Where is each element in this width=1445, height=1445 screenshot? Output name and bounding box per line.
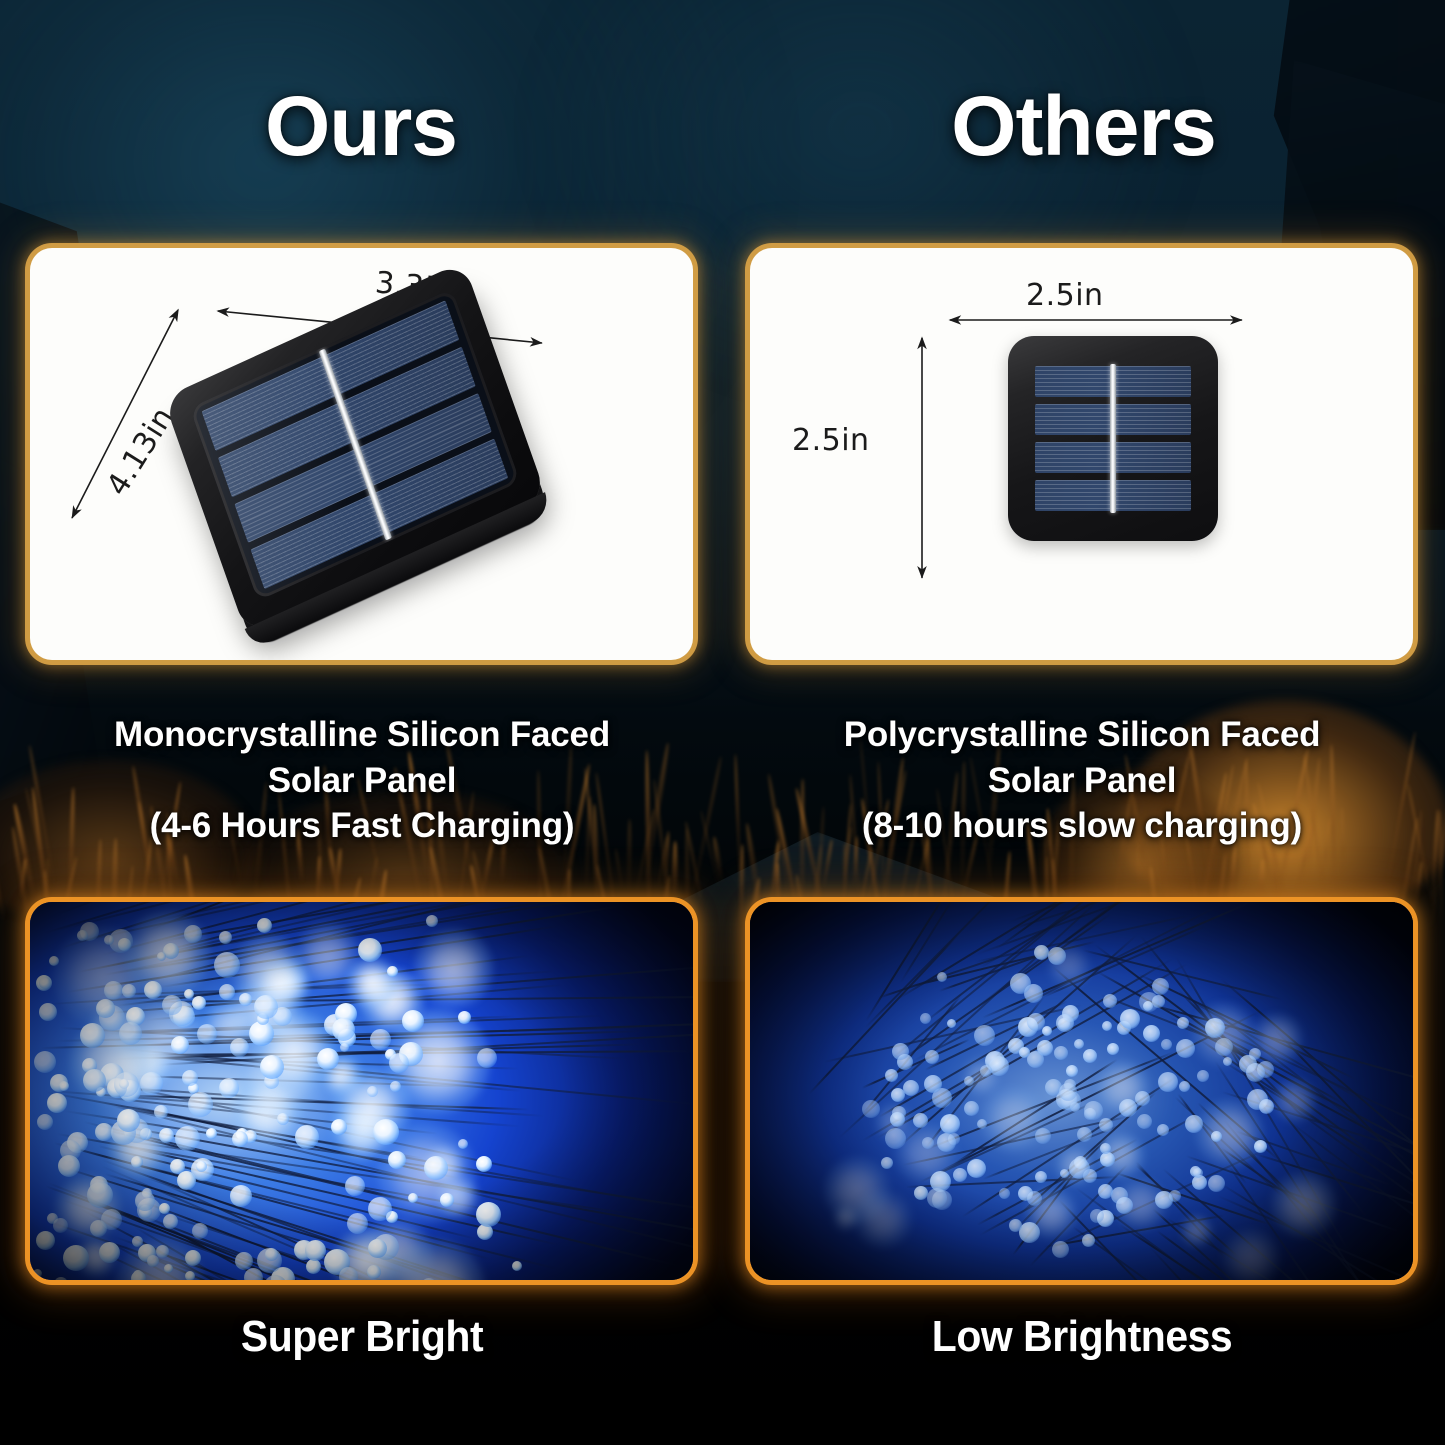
led-bead (117, 1109, 140, 1132)
led-bead (1246, 1063, 1265, 1082)
brightness-label-ours: Super Bright (66, 1312, 657, 1362)
led-bead (214, 952, 240, 978)
led-bead (265, 1248, 278, 1261)
led-bead (33, 1269, 42, 1278)
led-bead (977, 1119, 987, 1129)
led-bead (36, 1231, 55, 1250)
caption-ours: Monocrystalline Silicon Faced Solar Pane… (44, 712, 680, 849)
led-bead (974, 1025, 995, 1046)
led-bead (197, 1024, 217, 1044)
led-bead (39, 977, 51, 989)
led-bead (1027, 1191, 1042, 1206)
led-bead (890, 1112, 905, 1127)
led-bead (1035, 1171, 1047, 1183)
led-bead (1066, 1065, 1078, 1077)
led-bead (114, 1072, 139, 1097)
led-bead (104, 935, 114, 945)
led-bead (1048, 947, 1066, 965)
led-bead (387, 966, 398, 977)
led-bead (389, 1053, 409, 1073)
led-bead (345, 1176, 365, 1196)
led-bead (340, 1043, 349, 1052)
caption-line-1: Monocrystalline Silicon Faced (44, 712, 680, 758)
led-glow (1222, 1229, 1280, 1280)
led-bead (947, 1019, 956, 1028)
panel-card-others: 2.5in 2.5in (750, 248, 1413, 660)
led-bead (196, 1161, 207, 1172)
led-bead (368, 1239, 387, 1258)
led-bead (232, 1131, 248, 1147)
led-bead (1010, 973, 1031, 994)
led-bead (1119, 1099, 1137, 1117)
led-bead (477, 1048, 497, 1068)
led-bead (940, 1114, 960, 1134)
led-bead (219, 931, 232, 944)
led-glow (833, 1205, 859, 1231)
led-glow (981, 1087, 1046, 1152)
led-bead (192, 996, 206, 1010)
led-bead (1177, 1017, 1189, 1029)
led-bead (339, 1267, 358, 1280)
caption-line-1: Polycrystalline Silicon Faced (764, 712, 1400, 758)
led-bead (206, 1128, 217, 1139)
led-bead (358, 938, 382, 962)
led-bead (388, 1151, 406, 1169)
led-bead (476, 1202, 501, 1227)
led-string-photo-bright (30, 902, 693, 1280)
led-bead (892, 1043, 909, 1060)
led-bead (1100, 1143, 1111, 1154)
led-bead (1034, 945, 1049, 960)
led-bead (914, 1186, 928, 1200)
led-bead (257, 918, 272, 933)
led-bead (924, 1075, 942, 1093)
led-bead (182, 1070, 198, 1086)
led-bead (1107, 1043, 1119, 1055)
led-glow (414, 929, 493, 1008)
led-bead (1009, 1219, 1022, 1232)
led-bead (90, 1220, 107, 1237)
led-bead (230, 1038, 249, 1057)
led-bead (192, 1223, 208, 1239)
led-bead (317, 1048, 339, 1070)
led-bead (135, 1191, 155, 1211)
led-bead (408, 1193, 418, 1203)
led-photo-card-others (750, 902, 1413, 1280)
led-bead (219, 984, 235, 1000)
led-bead (83, 1069, 106, 1092)
led-bead (512, 1261, 522, 1271)
led-bead (1052, 1241, 1069, 1258)
led-bead (87, 1182, 113, 1208)
led-bead (964, 1076, 974, 1086)
led-bead (999, 1188, 1010, 1199)
led-bead (147, 1255, 159, 1267)
led-bead (390, 1081, 401, 1092)
led-bead (402, 1010, 424, 1032)
led-bead (367, 1086, 378, 1097)
led-bead (367, 1265, 381, 1279)
led-bead (295, 1125, 319, 1149)
led-bead (58, 1155, 80, 1177)
led-bead (184, 989, 194, 999)
led-bead (1120, 1009, 1140, 1029)
led-bead (184, 925, 202, 943)
led-bead (254, 995, 278, 1019)
dimension-width-label-others: 2.5in (1026, 278, 1104, 313)
comparison-infographic: Ours Others 3.35in 4.13in (0, 0, 1445, 1445)
led-bead (373, 1119, 399, 1145)
led-bead (132, 1236, 143, 1247)
led-bead (1027, 1013, 1045, 1031)
led-bead (1197, 1070, 1209, 1082)
led-bead (1143, 1025, 1160, 1042)
led-bead (1139, 992, 1159, 1012)
led-bead (306, 1259, 321, 1274)
led-bead (1205, 1018, 1225, 1038)
led-bead (1135, 1091, 1150, 1106)
led-bead (159, 1128, 174, 1143)
led-bead (1037, 1040, 1053, 1056)
led-bead (39, 1003, 57, 1021)
led-bead (119, 1022, 142, 1045)
led-bead (368, 1197, 392, 1221)
led-bead (156, 1245, 169, 1258)
led-bead (885, 1069, 898, 1082)
page-title-ours: Ours (0, 78, 722, 175)
led-bead (347, 1213, 368, 1234)
led-bead (913, 1113, 928, 1128)
led-bead (426, 915, 438, 927)
led-bead (1090, 1209, 1104, 1223)
led-bead (1019, 1047, 1030, 1058)
led-bead (219, 1078, 239, 1098)
led-bead (1211, 1131, 1222, 1142)
led-bead (885, 1128, 906, 1149)
led-bead (77, 930, 88, 941)
led-bead (1137, 1114, 1152, 1129)
led-bead (424, 1156, 448, 1180)
led-bead (63, 1245, 89, 1271)
led-bead (967, 1159, 986, 1178)
led-bead (1158, 1072, 1178, 1092)
led-bead (1082, 1234, 1095, 1247)
caption-line-2: Solar Panel (44, 758, 680, 804)
led-bead (458, 1011, 471, 1024)
led-bead (131, 1271, 146, 1280)
led-bead (1161, 1039, 1172, 1050)
led-glow (854, 1190, 912, 1248)
led-bead (1223, 1057, 1232, 1066)
led-bead (922, 1137, 934, 1149)
led-bead (162, 995, 182, 1015)
led-bead (1074, 1039, 1084, 1049)
led-bead (440, 1193, 454, 1207)
led-bead (99, 1242, 120, 1263)
led-bead (131, 1156, 143, 1168)
led-bead (159, 1203, 170, 1214)
led-bead (1056, 1014, 1074, 1032)
panel-busbar (1110, 364, 1116, 513)
caption-others: Polycrystalline Silicon Faced Solar Pane… (764, 712, 1400, 849)
led-bead (953, 1168, 967, 1182)
led-bead (925, 1050, 939, 1064)
led-bead (1035, 1128, 1051, 1144)
led-bead (1083, 1049, 1097, 1063)
led-bead (1176, 1039, 1195, 1058)
led-bead (260, 1055, 284, 1079)
led-bead (927, 1188, 947, 1208)
led-bead (80, 1023, 105, 1048)
led-bead (144, 981, 162, 999)
led-bead (881, 1157, 893, 1169)
led-bead (140, 1072, 163, 1095)
led-bead (1152, 978, 1169, 995)
led-bead (47, 1093, 67, 1113)
page-title-others: Others (722, 78, 1445, 175)
led-bead (163, 1214, 178, 1229)
led-bead (1179, 1081, 1190, 1092)
led-bead (964, 1101, 979, 1116)
led-bead (1185, 1115, 1203, 1133)
led-bead (164, 1264, 173, 1273)
led-bead (122, 984, 136, 998)
solar-panel-others (1008, 336, 1218, 541)
led-bead (53, 1218, 68, 1233)
caption-line-3: (4-6 Hours Fast Charging) (44, 803, 680, 849)
led-bead (1193, 1168, 1203, 1178)
led-bead (230, 1185, 252, 1207)
led-glow (1180, 1214, 1213, 1247)
led-bead (1098, 1184, 1113, 1199)
panel-illustration-ours: 3.35in 4.13in (30, 248, 693, 660)
led-bead (1042, 1026, 1052, 1036)
led-photo-card-ours (30, 902, 693, 1280)
panel-illustration-others: 2.5in 2.5in (750, 248, 1413, 660)
led-bead (1019, 1222, 1040, 1243)
led-bead (1215, 1038, 1233, 1056)
led-bead (1259, 1099, 1274, 1114)
led-bead (1100, 1152, 1115, 1167)
led-bead (903, 1080, 919, 1096)
caption-line-3: (8-10 hours slow charging) (764, 803, 1400, 849)
led-bead (1254, 1140, 1267, 1153)
led-bead (1157, 1124, 1169, 1136)
led-bead (1054, 1046, 1068, 1060)
led-bead (331, 1119, 347, 1135)
led-bead (920, 1013, 931, 1024)
led-bead (370, 1029, 391, 1050)
led-bead (1059, 1083, 1077, 1101)
led-glow (1271, 1172, 1337, 1238)
led-bead (96, 999, 115, 1018)
led-bead (1060, 1169, 1069, 1178)
led-bead (154, 1105, 168, 1119)
led-bead (239, 993, 252, 1006)
led-bead (1077, 1127, 1092, 1142)
led-bead (305, 1240, 326, 1261)
led-bead (1099, 1118, 1113, 1132)
led-bead (188, 1092, 213, 1117)
dimension-height-label-others: 2.5in (792, 423, 870, 458)
led-bead (49, 956, 59, 966)
led-bead (171, 1036, 189, 1054)
brightness-label-others: Low Brightness (786, 1312, 1377, 1362)
led-bead (862, 1100, 880, 1118)
led-bead (980, 1065, 992, 1077)
led-bead (37, 1114, 53, 1130)
caption-line-2: Solar Panel (764, 758, 1400, 804)
led-bead (891, 1088, 905, 1102)
panel-card-ours: 3.35in 4.13in (30, 248, 693, 660)
led-bead (59, 1081, 69, 1091)
led-bead (458, 1139, 468, 1149)
led-string-photo-dim (750, 902, 1413, 1280)
led-glow (346, 957, 398, 1009)
led-bead (185, 1250, 201, 1266)
led-bead (332, 1018, 355, 1041)
led-bead (185, 1271, 195, 1280)
led-bead (1069, 1158, 1090, 1179)
led-bead (1155, 1191, 1173, 1209)
led-bead (34, 1051, 56, 1073)
led-bead (476, 1156, 492, 1172)
led-bead (989, 1056, 1009, 1076)
led-bead (1116, 1197, 1133, 1214)
led-bead (937, 972, 947, 982)
led-bead (1102, 1021, 1112, 1031)
led-bead (244, 1268, 263, 1280)
led-bead (1103, 994, 1117, 1008)
led-bead (104, 981, 123, 1000)
led-bead (937, 1133, 956, 1152)
led-bead (157, 952, 166, 961)
led-bead (1084, 1101, 1103, 1120)
led-bead (175, 1126, 200, 1151)
led-glow (1272, 1078, 1317, 1123)
led-bead (1208, 1175, 1225, 1192)
led-bead (277, 1113, 289, 1125)
